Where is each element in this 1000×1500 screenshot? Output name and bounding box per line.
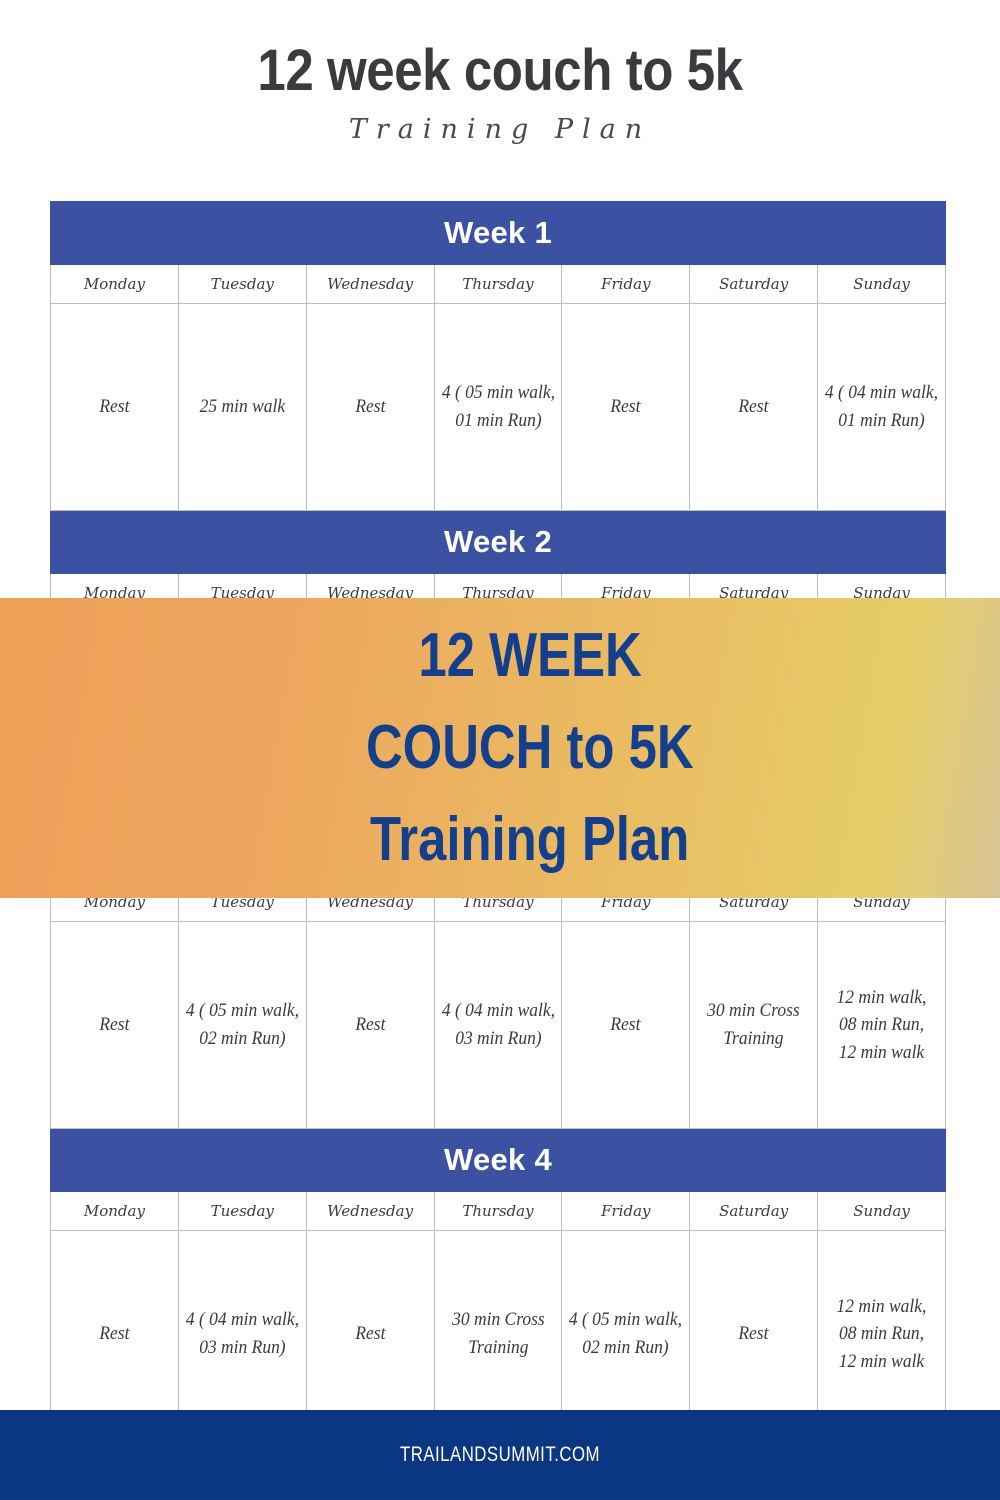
- workout-cell: 4 ( 04 min walk,01 min Run): [818, 304, 946, 511]
- day-header-monday: Monday: [51, 1192, 179, 1231]
- workout-line: 12 min walk,: [823, 984, 940, 1012]
- week-banner-row: Week 1: [51, 202, 946, 265]
- day-header-friday: Friday: [562, 1192, 690, 1231]
- day-header-saturday: Saturday: [690, 1192, 818, 1231]
- workout-line: 4 ( 04 min walk,: [823, 379, 940, 407]
- week-title: Week 4: [51, 1129, 946, 1192]
- workout-line: 4 ( 05 min walk,: [440, 379, 557, 407]
- workout-line: 4 ( 05 min walk,: [567, 1306, 684, 1334]
- workout-line: Rest: [56, 393, 173, 421]
- promo-overlay-banner: 12 WEEK COUCH to 5K Training Plan: [0, 598, 1000, 898]
- workout-line: 03 min Run): [184, 1334, 301, 1362]
- workout-line: 01 min Run): [823, 407, 940, 435]
- workout-line: Training: [440, 1334, 557, 1362]
- workout-line: 4 ( 05 min walk,: [184, 997, 301, 1025]
- workout-cell: Rest: [306, 304, 434, 511]
- workout-line: 02 min Run): [184, 1025, 301, 1053]
- workout-line: 30 min Cross: [695, 997, 812, 1025]
- workout-cell: Rest: [51, 1231, 179, 1438]
- workout-row: Rest4 ( 05 min walk,02 min Run)Rest4 ( 0…: [51, 922, 946, 1129]
- workout-line: Rest: [695, 393, 812, 421]
- overlay-line-1: 12 WEEK: [418, 610, 641, 702]
- workout-line: 08 min Run,: [823, 1011, 940, 1039]
- site-footer: TRAILANDSUMMIT.COM: [0, 1410, 1000, 1500]
- workout-cell: Rest: [51, 304, 179, 511]
- workout-line: Training: [695, 1025, 812, 1053]
- day-header-thursday: Thursday: [434, 1192, 562, 1231]
- workout-line: 01 min Run): [440, 407, 557, 435]
- workout-cell: 4 ( 05 min walk,02 min Run): [562, 1231, 690, 1438]
- workout-cell: Rest: [306, 1231, 434, 1438]
- workout-cell: Rest: [562, 304, 690, 511]
- workout-line: Rest: [56, 1011, 173, 1039]
- workout-line: 4 ( 04 min walk,: [184, 1306, 301, 1334]
- day-header-sunday: Sunday: [818, 1192, 946, 1231]
- workout-line: Rest: [567, 393, 684, 421]
- workout-line: 03 min Run): [440, 1025, 557, 1053]
- site-url: TRAILANDSUMMIT.COM: [400, 1443, 600, 1467]
- workout-cell: 4 ( 05 min walk,01 min Run): [434, 304, 562, 511]
- overlay-line-2: COUCH to 5K: [366, 702, 694, 794]
- workout-line: Rest: [312, 393, 429, 421]
- workout-line: 12 min walk: [823, 1039, 940, 1067]
- workout-line: 12 min walk: [823, 1348, 940, 1376]
- week-banner-row: Week 2: [51, 511, 946, 574]
- day-header-row: MondayTuesdayWednesdayThursdayFridaySatu…: [51, 1192, 946, 1231]
- workout-row: Rest25 min walkRest4 ( 05 min walk,01 mi…: [51, 304, 946, 511]
- day-header-row: MondayTuesdayWednesdayThursdayFridaySatu…: [51, 265, 946, 304]
- workout-cell: Rest: [690, 304, 818, 511]
- workout-line: Rest: [312, 1320, 429, 1348]
- workout-line: 02 min Run): [567, 1334, 684, 1362]
- week-title: Week 2: [51, 511, 946, 574]
- workout-cell: 30 min CrossTraining: [690, 922, 818, 1129]
- day-header-monday: Monday: [51, 265, 179, 304]
- page-header: 12 week couch to 5k Training Plan: [0, 0, 1000, 145]
- workout-line: 08 min Run,: [823, 1320, 940, 1348]
- page-subtitle: Training Plan: [0, 114, 1000, 145]
- week-banner-row: Week 4: [51, 1129, 946, 1192]
- page-title: 12 week couch to 5k: [60, 42, 940, 100]
- day-header-wednesday: Wednesday: [306, 1192, 434, 1231]
- workout-line: 25 min walk: [184, 393, 301, 421]
- workout-cell: Rest: [562, 922, 690, 1129]
- workout-cell: Rest: [690, 1231, 818, 1438]
- day-header-tuesday: Tuesday: [178, 265, 306, 304]
- workout-cell: Rest: [51, 922, 179, 1129]
- week-title: Week 1: [51, 202, 946, 265]
- workout-line: 4 ( 04 min walk,: [440, 997, 557, 1025]
- workout-cell: 4 ( 04 min walk,03 min Run): [434, 922, 562, 1129]
- workout-row: Rest4 ( 04 min walk,03 min Run)Rest30 mi…: [51, 1231, 946, 1438]
- overlay-line-3: Training Plan: [370, 794, 689, 886]
- day-header-sunday: Sunday: [818, 265, 946, 304]
- workout-cell: 12 min walk,08 min Run,12 min walk: [818, 1231, 946, 1438]
- day-header-friday: Friday: [562, 265, 690, 304]
- workout-line: Rest: [56, 1320, 173, 1348]
- day-header-saturday: Saturday: [690, 265, 818, 304]
- day-header-thursday: Thursday: [434, 265, 562, 304]
- workout-cell: 12 min walk,08 min Run,12 min walk: [818, 922, 946, 1129]
- workout-line: Rest: [695, 1320, 812, 1348]
- workout-cell: 25 min walk: [178, 304, 306, 511]
- workout-cell: 30 min CrossTraining: [434, 1231, 562, 1438]
- day-header-tuesday: Tuesday: [178, 1192, 306, 1231]
- workout-cell: Rest: [306, 922, 434, 1129]
- workout-line: Rest: [567, 1011, 684, 1039]
- workout-line: Rest: [312, 1011, 429, 1039]
- day-header-wednesday: Wednesday: [306, 265, 434, 304]
- workout-cell: 4 ( 05 min walk,02 min Run): [178, 922, 306, 1129]
- workout-cell: 4 ( 04 min walk,03 min Run): [178, 1231, 306, 1438]
- workout-line: 12 min walk,: [823, 1293, 940, 1321]
- workout-line: 30 min Cross: [440, 1306, 557, 1334]
